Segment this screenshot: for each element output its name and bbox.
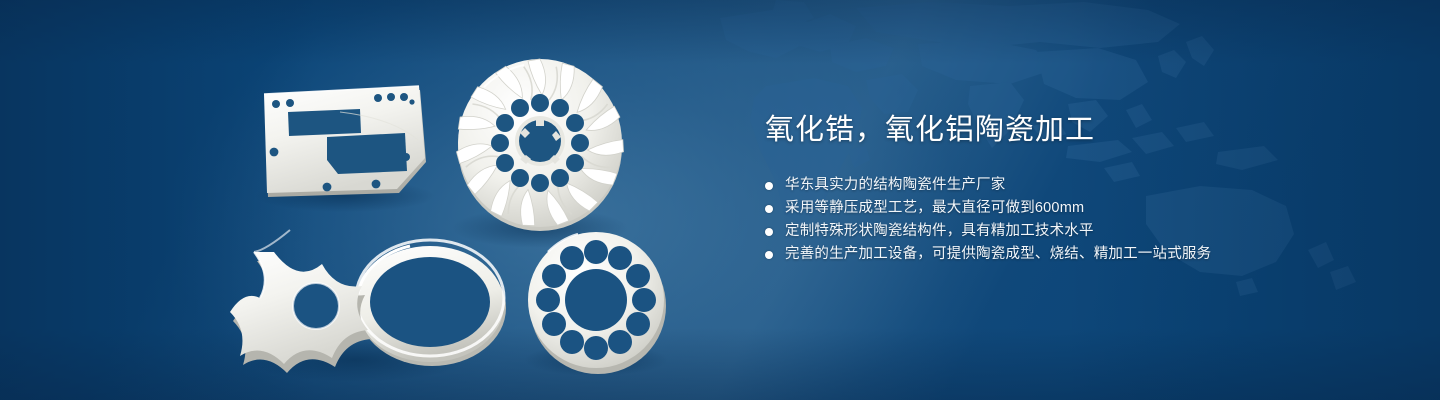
bullet-dot-icon bbox=[765, 228, 773, 236]
ceramic-hole-ring-flange-shape bbox=[528, 232, 666, 374]
list-item-label: 采用等静压成型工艺，最大直径可做到600mm bbox=[785, 197, 1084, 220]
list-item: 完善的生产加工设备，可提供陶瓷成型、烧结、精加工一站式服务 bbox=[765, 243, 1385, 266]
list-item: 定制特殊形状陶瓷结构件，具有精加工技术水平 bbox=[765, 220, 1385, 243]
list-item: 采用等静压成型工艺，最大直径可做到600mm bbox=[765, 197, 1385, 220]
page-title: 氧化锆，氧化铝陶瓷加工 bbox=[765, 110, 1385, 150]
list-item: 华东具实力的结构陶瓷件生产厂家 bbox=[765, 174, 1385, 197]
ceramic-products-image bbox=[0, 0, 700, 400]
banner-copy: 氧化锆，氧化铝陶瓷加工 华东具实力的结构陶瓷件生产厂家 采用等静压成型工艺，最大… bbox=[765, 110, 1385, 266]
feature-list: 华东具实力的结构陶瓷件生产厂家 采用等静压成型工艺，最大直径可做到600mm 定… bbox=[765, 174, 1385, 266]
ceramic-thin-ring-shape bbox=[356, 240, 506, 366]
bullet-dot-icon bbox=[765, 251, 773, 259]
bullet-dot-icon bbox=[765, 205, 773, 213]
list-item-label: 完善的生产加工设备，可提供陶瓷成型、烧结、精加工一站式服务 bbox=[785, 243, 1211, 266]
ceramic-impeller-disc-shape bbox=[456, 59, 625, 231]
ceramic-base-plate-shape bbox=[264, 86, 426, 197]
hero-banner: 氧化锆，氧化铝陶瓷加工 华东具实力的结构陶瓷件生产厂家 采用等静压成型工艺，最大… bbox=[0, 0, 1440, 400]
list-item-label: 华东具实力的结构陶瓷件生产厂家 bbox=[785, 174, 1006, 197]
list-item-label: 定制特殊形状陶瓷结构件，具有精加工技术水平 bbox=[785, 220, 1094, 243]
bullet-dot-icon bbox=[765, 182, 773, 190]
